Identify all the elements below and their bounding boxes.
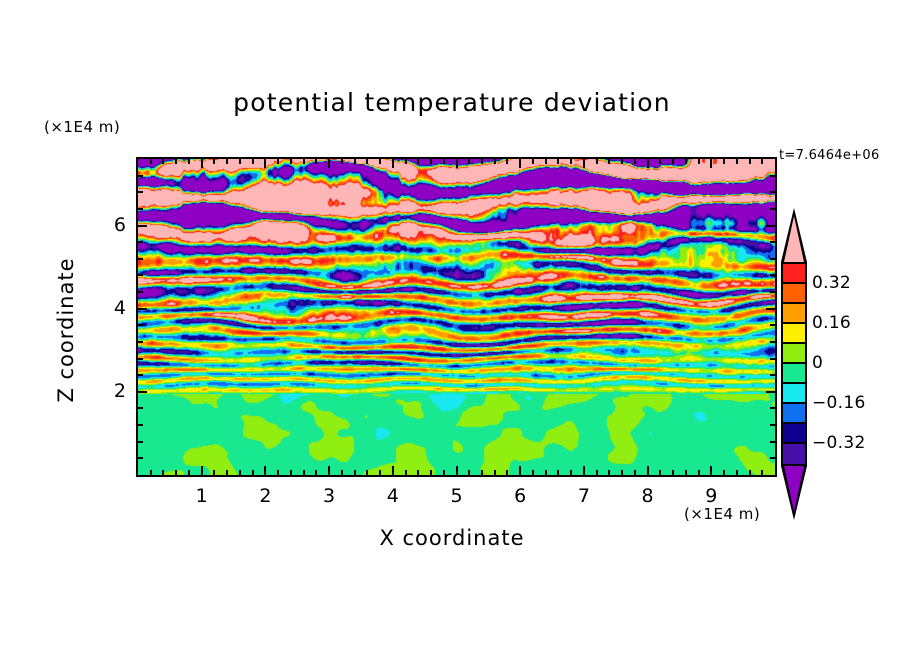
colorbar-tick-label: −0.32 [812, 433, 866, 453]
colorbar-tick-label: 0.16 [812, 313, 851, 333]
x-axis-tick-label: 8 [628, 485, 668, 507]
y-axis-unit-label: (×1E4 m) [44, 118, 120, 136]
time-annotation: t=7.6464e+06 [779, 148, 880, 163]
x-axis-tick-label: 3 [309, 485, 349, 507]
colorbar-band [783, 284, 805, 304]
y-axis-title: Z coordinate [54, 230, 78, 430]
colorbar-band [783, 364, 805, 384]
colorbar-tick-label: 0.32 [812, 273, 851, 293]
contour-field-canvas [138, 159, 775, 475]
x-axis-tick-label: 4 [373, 485, 413, 507]
colorbar-band [783, 264, 805, 284]
colorbar-band [783, 304, 805, 324]
y-axis-tick-label: 2 [86, 380, 126, 402]
colorbar-band [783, 344, 805, 364]
x-axis-tick-label: 9 [691, 485, 731, 507]
colorbar-band [783, 424, 805, 444]
x-axis-tick-label: 7 [564, 485, 604, 507]
x-axis-unit-label: (×1E4 m) [684, 505, 760, 523]
y-axis-tick-label: 6 [86, 214, 126, 236]
y-axis-tick-label: 4 [86, 297, 126, 319]
colorbar-tick-label: 0 [812, 353, 823, 373]
x-axis-tick-label: 5 [437, 485, 477, 507]
colorbar-cap-bottom [784, 466, 804, 512]
colorbar-band [783, 444, 805, 464]
x-axis-tick-label: 1 [182, 485, 222, 507]
x-axis-title: X coordinate [0, 526, 904, 550]
x-axis-tick-label: 6 [500, 485, 540, 507]
colorbar-cap-top [784, 216, 804, 262]
page-title: potential temperature deviation [0, 88, 904, 117]
colorbar [781, 262, 807, 466]
colorbar-band [783, 404, 805, 424]
contour-plot-area [136, 157, 777, 477]
colorbar-band [783, 384, 805, 404]
colorbar-tick-label: −0.16 [812, 393, 866, 413]
colorbar-band [783, 324, 805, 344]
x-axis-tick-label: 2 [245, 485, 285, 507]
